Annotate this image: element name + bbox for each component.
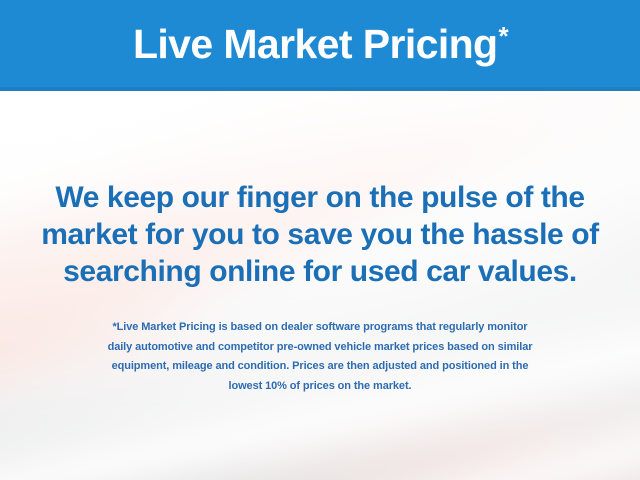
headline-line: searching online for used car values. <box>22 253 618 290</box>
header-banner: Live Market Pricing* <box>0 0 640 91</box>
headline-line: We keep our finger on the pulse of the <box>22 179 618 216</box>
promo-content: We keep our finger on the pulse of the m… <box>0 91 640 480</box>
headline-message: We keep our finger on the pulse of the m… <box>0 179 640 290</box>
live-market-pricing-promo: Live Market Pricing* We keep our finger … <box>0 0 640 480</box>
page-title-text: Live Market Pricing <box>133 21 498 67</box>
disclaimer-line: daily automotive and competitor pre-owne… <box>20 338 620 358</box>
disclaimer-line: lowest 10% of prices on the market. <box>20 377 620 397</box>
disclaimer-text: *Live Market Pricing is based on dealer … <box>0 318 640 396</box>
page-title: Live Market Pricing* <box>133 24 507 65</box>
asterisk-marker: * <box>499 21 509 51</box>
headline-line: market for you to save you the hassle of <box>22 216 618 253</box>
disclaimer-line: *Live Market Pricing is based on dealer … <box>20 318 620 338</box>
disclaimer-line: equipment, mileage and condition. Prices… <box>20 357 620 377</box>
